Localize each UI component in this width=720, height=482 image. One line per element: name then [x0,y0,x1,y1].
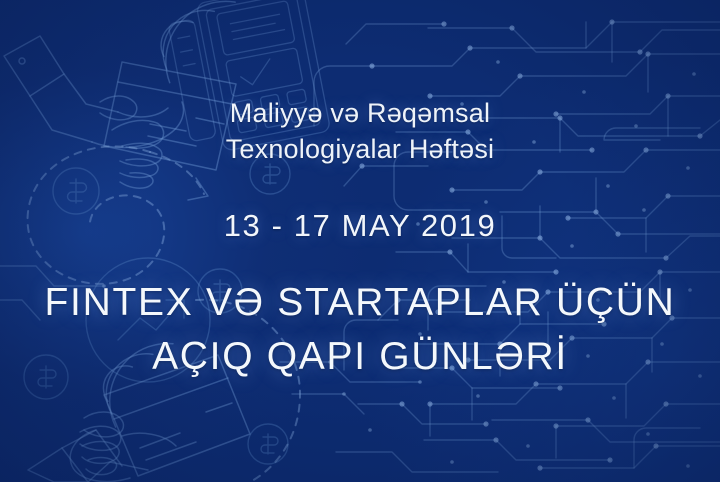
dollar-coin-icon [24,355,68,399]
poster-dateline: 13 - 17 MAY 2019 [224,208,497,244]
contactless-signal-icon [152,0,235,93]
circuit-traces-icon [314,22,720,472]
dashed-arc-icon [196,300,300,482]
dollar-coin-icon [250,154,290,194]
dollar-coin-icon [198,269,242,313]
pos-terminal-side-panel [168,19,216,142]
hand-holding-card-icon [28,355,250,482]
dollar-coin-icon [248,424,288,464]
contactless-signal-icon [97,333,173,434]
circuit-nodes [359,19,702,470]
circuit-traces-icon [0,266,420,414]
poster-headline: FINTEX VƏ STARTAPLAR ÜÇÜN AÇIQ QAPI GÜNL… [45,276,676,384]
event-poster: .ln { stroke:#6f9ad6; stroke-opacity:.42… [0,0,720,482]
dollar-coin-icon [53,168,99,214]
background-wash-right [0,0,720,482]
hand-holding-contactless-card-icon [4,36,236,188]
growth-chart-circle-icon [86,258,210,382]
background-wash-left [0,0,720,482]
background-artwork: .ln { stroke:#6f9ad6; stroke-opacity:.42… [0,0,720,482]
poster-text-stack: Maliyyə və Rəqəmsal Texnologiyalar Həftə… [0,0,720,482]
background-vignette [0,0,720,482]
circuit-dots-small [368,60,702,468]
pos-terminal-receipt-icon [196,0,331,151]
poster-subtitle: Maliyyə və Rəqəmsal Texnologiyalar Həftə… [226,96,495,167]
dashed-arrow-loop-icon [28,146,208,284]
